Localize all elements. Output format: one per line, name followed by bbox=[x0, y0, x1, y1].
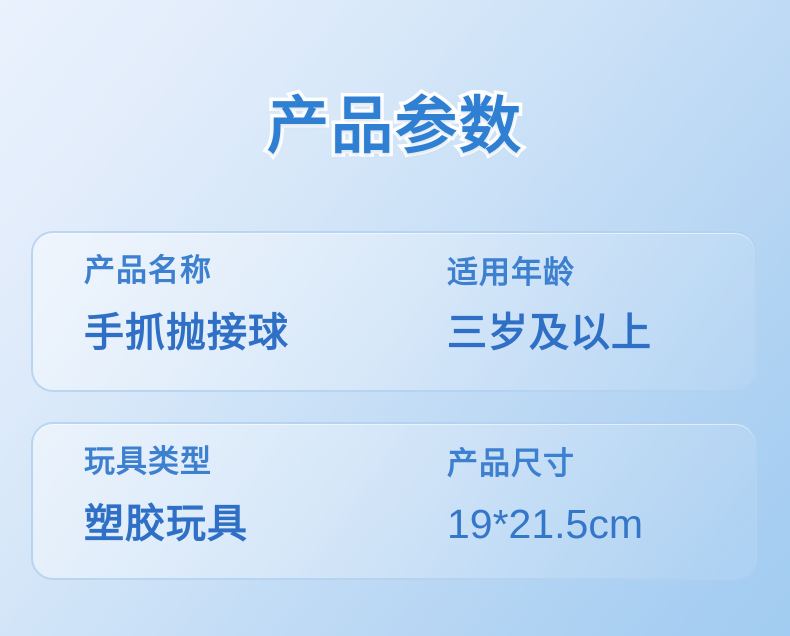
parameter-card-columns: 玩具类型 塑胶玩具 产品尺寸 19*21.5cm bbox=[33, 424, 755, 578]
parameter-value: 塑胶玩具 bbox=[84, 504, 248, 544]
parameter-label: 玩具类型 bbox=[84, 446, 212, 477]
parameter-card-columns: 产品名称 手抓抛接球 适用年龄 三岁及以上 bbox=[33, 233, 755, 390]
parameter-card: 产品名称 手抓抛接球 适用年龄 三岁及以上 bbox=[31, 231, 757, 392]
parameter-value: 手抓抛接球 bbox=[84, 313, 289, 353]
parameter-label: 产品名称 bbox=[84, 255, 212, 286]
parameter-label: 产品尺寸 bbox=[447, 448, 575, 479]
parameter-value: 三岁及以上 bbox=[447, 313, 652, 353]
parameter-value: 19*21.5cm bbox=[447, 504, 643, 545]
product-parameters-page: 产品参数 产品名称 手抓抛接球 适用年龄 三岁及以上 玩具类型 塑胶玩具 产品尺… bbox=[0, 0, 790, 636]
page-title-container: 产品参数 bbox=[0, 96, 790, 158]
page-title: 产品参数 bbox=[267, 96, 523, 158]
parameter-card: 玩具类型 塑胶玩具 产品尺寸 19*21.5cm bbox=[31, 422, 757, 580]
parameter-label: 适用年龄 bbox=[447, 257, 575, 288]
